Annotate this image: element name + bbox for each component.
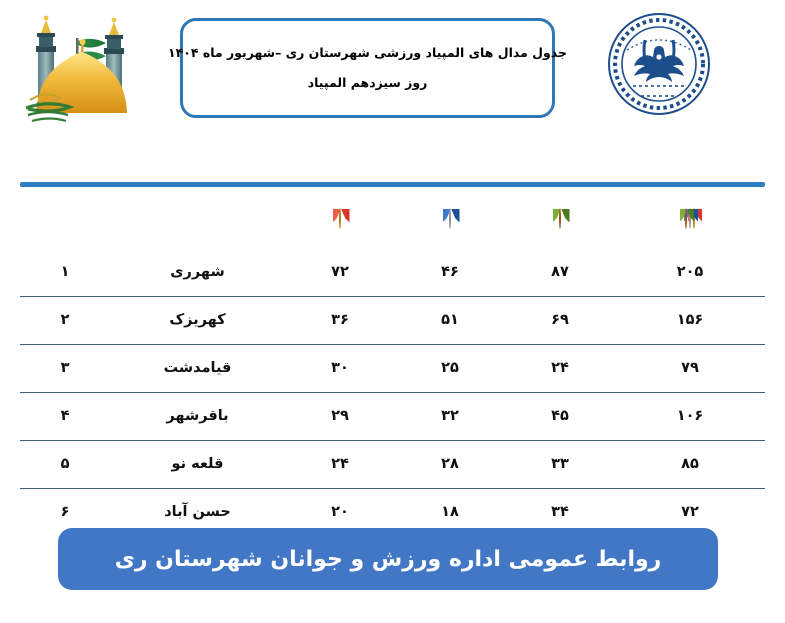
cell-silver-medals: ۳۲: [395, 392, 505, 440]
medal-table-wrapper: ۲۰۵۸۷۴۶۷۲شهرری۱۱۵۶۶۹۵۱۳۶کهریزک۲۷۹۲۴۲۵۳۰ق…: [20, 188, 765, 536]
cell-bronze-medals: ۴۵: [505, 392, 615, 440]
cell-total-medals: ۸۵: [615, 440, 765, 488]
header-city: [110, 188, 285, 248]
cell-gold-medals: ۲۹: [285, 392, 395, 440]
cell-silver-medals: ۲۸: [395, 440, 505, 488]
public-relations-banner: روابط عمومی اداره ورزش و جوانان شهرستان …: [58, 528, 718, 590]
cell-total-medals: ۱۵۶: [615, 296, 765, 344]
table-row: ۱۰۶۴۵۳۲۲۹باقرشهر۴: [20, 392, 765, 440]
cell-gold-medals: ۳۰: [285, 344, 395, 392]
cell-total-medals: ۷۹: [615, 344, 765, 392]
poster-root: جدول مدال های المپیاد ورزشی شهرستان ری –…: [0, 0, 785, 623]
bronze-medal-small-icon: [685, 209, 687, 228]
cell-total-medals: ۱۰۶: [615, 392, 765, 440]
cell-city-name: قلعه نو: [110, 440, 285, 488]
table-top-rule: [20, 182, 765, 187]
cell-bronze-medals: ۳۳: [505, 440, 615, 488]
cell-total-medals: ۲۰۵: [615, 248, 765, 296]
cell-rank: ۳: [20, 344, 110, 392]
organization-seal-logo: [605, 10, 713, 118]
cell-city-name: باقرشهر: [110, 392, 285, 440]
table-header-row: [20, 188, 765, 248]
header: جدول مدال های المپیاد ورزشی شهرستان ری –…: [0, 0, 785, 140]
disc-gold: [339, 208, 341, 229]
cell-city-name: قیامدشت: [110, 344, 285, 392]
cell-silver-medals: ۴۶: [395, 248, 505, 296]
cell-gold-medals: ۷۲: [285, 248, 395, 296]
cell-city-name: شهرری: [110, 248, 285, 296]
disc-bronze: [685, 208, 687, 229]
table-row: ۷۹۲۴۲۵۳۰قیامدشت۳: [20, 344, 765, 392]
cell-rank: ۲: [20, 296, 110, 344]
header-rank: [20, 188, 110, 248]
cell-rank: ۵: [20, 440, 110, 488]
three-medals-icon: [615, 209, 765, 228]
disc-silver: [449, 208, 451, 229]
seal-emblem: [634, 40, 684, 82]
bronze-medal-icon: [559, 209, 561, 228]
header-bronze-medals: [505, 188, 615, 248]
title-line-1: جدول مدال های المپیاد ورزشی شهرستان ری –…: [168, 45, 567, 61]
disc-bronze: [559, 208, 561, 229]
table-row: ۱۵۶۶۹۵۱۳۶کهریزک۲: [20, 296, 765, 344]
cell-gold-medals: ۲۴: [285, 440, 395, 488]
banner-text: روابط عمومی اداره ورزش و جوانان شهرستان …: [115, 547, 662, 572]
table-row: ۸۵۳۳۲۸۲۴قلعه نو۵: [20, 440, 765, 488]
cell-city-name: کهریزک: [110, 296, 285, 344]
cell-rank: ۱: [20, 248, 110, 296]
header-silver-medals: [395, 188, 505, 248]
cell-gold-medals: ۳۶: [285, 296, 395, 344]
header-total-medals: [615, 188, 765, 248]
title-line-2: روز سیزدهم المپیاد: [308, 75, 428, 91]
cell-bronze-medals: ۶۹: [505, 296, 615, 344]
header-gold-medals: [285, 188, 395, 248]
cell-silver-medals: ۵۱: [395, 296, 505, 344]
cell-rank: ۴: [20, 392, 110, 440]
shrine-dome-artwork: [14, 8, 149, 128]
medal-table-body: ۲۰۵۸۷۴۶۷۲شهرری۱۱۵۶۶۹۵۱۳۶کهریزک۲۷۹۲۴۲۵۳۰ق…: [20, 248, 765, 536]
seal-inner-text: [633, 86, 685, 96]
cell-bronze-medals: ۸۷: [505, 248, 615, 296]
silver-medal-icon: [449, 209, 451, 228]
cell-silver-medals: ۲۵: [395, 344, 505, 392]
gold-medal-icon: [339, 209, 341, 228]
title-box: جدول مدال های المپیاد ورزشی شهرستان ری –…: [180, 18, 555, 118]
medal-table: ۲۰۵۸۷۴۶۷۲شهرری۱۱۵۶۶۹۵۱۳۶کهریزک۲۷۹۲۴۲۵۳۰ق…: [20, 188, 765, 536]
table-row: ۲۰۵۸۷۴۶۷۲شهرری۱: [20, 248, 765, 296]
cell-bronze-medals: ۲۴: [505, 344, 615, 392]
